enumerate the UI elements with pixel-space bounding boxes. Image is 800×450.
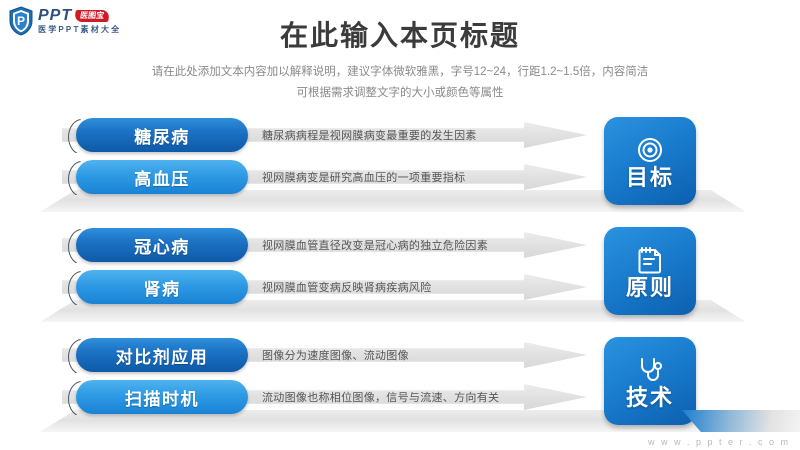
subtitle-line-1: 请在此处添加文本内容加以解释说明，建议字体微软雅黑，字号12~24，行距1.2~… — [0, 62, 800, 83]
topic-pill-contrast-agent[interactable]: 对比剂应用 — [76, 338, 248, 372]
topic-desc-contrast-agent: 图像分为速度图像、流动图像 — [262, 338, 572, 372]
site-watermark: w w w . p p t e r . c o m — [648, 437, 790, 447]
page-subtitle: 请在此处添加文本内容加以解释说明，建议字体微软雅黑，字号12~24，行距1.2~… — [0, 62, 800, 105]
topic-desc-diabetes: 糖尿病病程是视网膜病变最重要的发生因素 — [262, 118, 572, 152]
slide-root: P PPT 医图宝 医学PPT素材大全 在此输入本页标题 请在此处添加文本内容加… — [0, 0, 800, 450]
page-title: 在此输入本页标题 — [0, 14, 800, 54]
category-card-principle[interactable]: 原则 — [604, 227, 696, 315]
topic-pill-diabetes[interactable]: 糖尿病 — [76, 118, 248, 152]
category-card-label: 技术 — [626, 387, 674, 409]
topic-pill-label: 冠心病 — [134, 233, 190, 258]
stethoscope-icon — [636, 354, 664, 386]
topic-pill-label: 糖尿病 — [134, 123, 190, 148]
category-card-label: 原则 — [626, 277, 674, 299]
topic-desc-coronary: 视网膜血管直径改变是冠心病的独立危险因素 — [262, 228, 572, 262]
topic-pill-label: 扫描时机 — [125, 385, 199, 410]
target-icon — [636, 134, 664, 166]
corner-fold-decoration — [682, 410, 800, 432]
content-row-3: 对比剂应用 图像分为速度图像、流动图像 扫描时机 流动图像也称相位图像，信号与流… — [0, 332, 800, 432]
topic-pill-scan-timing[interactable]: 扫描时机 — [76, 380, 248, 414]
topic-pill-hypertension[interactable]: 高血压 — [76, 160, 248, 194]
subtitle-line-2: 可根据需求调整文字的大小或颜色等属性 — [0, 83, 800, 104]
category-card-technique[interactable]: 技术 — [604, 337, 696, 425]
clipboard-icon — [637, 244, 663, 276]
topic-desc-hypertension: 视网膜病变是研究高血压的一项重要指标 — [262, 160, 572, 194]
category-card-goal[interactable]: 目标 — [604, 117, 696, 205]
topic-pill-label: 肾病 — [144, 275, 181, 300]
topic-pill-kidney[interactable]: 肾病 — [76, 270, 248, 304]
topic-pill-label: 对比剂应用 — [116, 343, 209, 368]
category-card-label: 目标 — [626, 167, 674, 189]
topic-desc-scan-timing: 流动图像也称相位图像，信号与流速、方向有关 — [262, 380, 572, 414]
topic-pill-label: 高血压 — [134, 165, 190, 190]
topic-pill-coronary[interactable]: 冠心病 — [76, 228, 248, 262]
content-row-2: 冠心病 视网膜血管直径改变是冠心病的独立危险因素 肾病 视网膜血管变病反映肾病疾… — [0, 222, 800, 322]
content-row-1: 糖尿病 糖尿病病程是视网膜病变最重要的发生因素 高血压 视网膜病变是研究高血压的… — [0, 112, 800, 212]
topic-desc-kidney: 视网膜血管变病反映肾病疾病风险 — [262, 270, 572, 304]
